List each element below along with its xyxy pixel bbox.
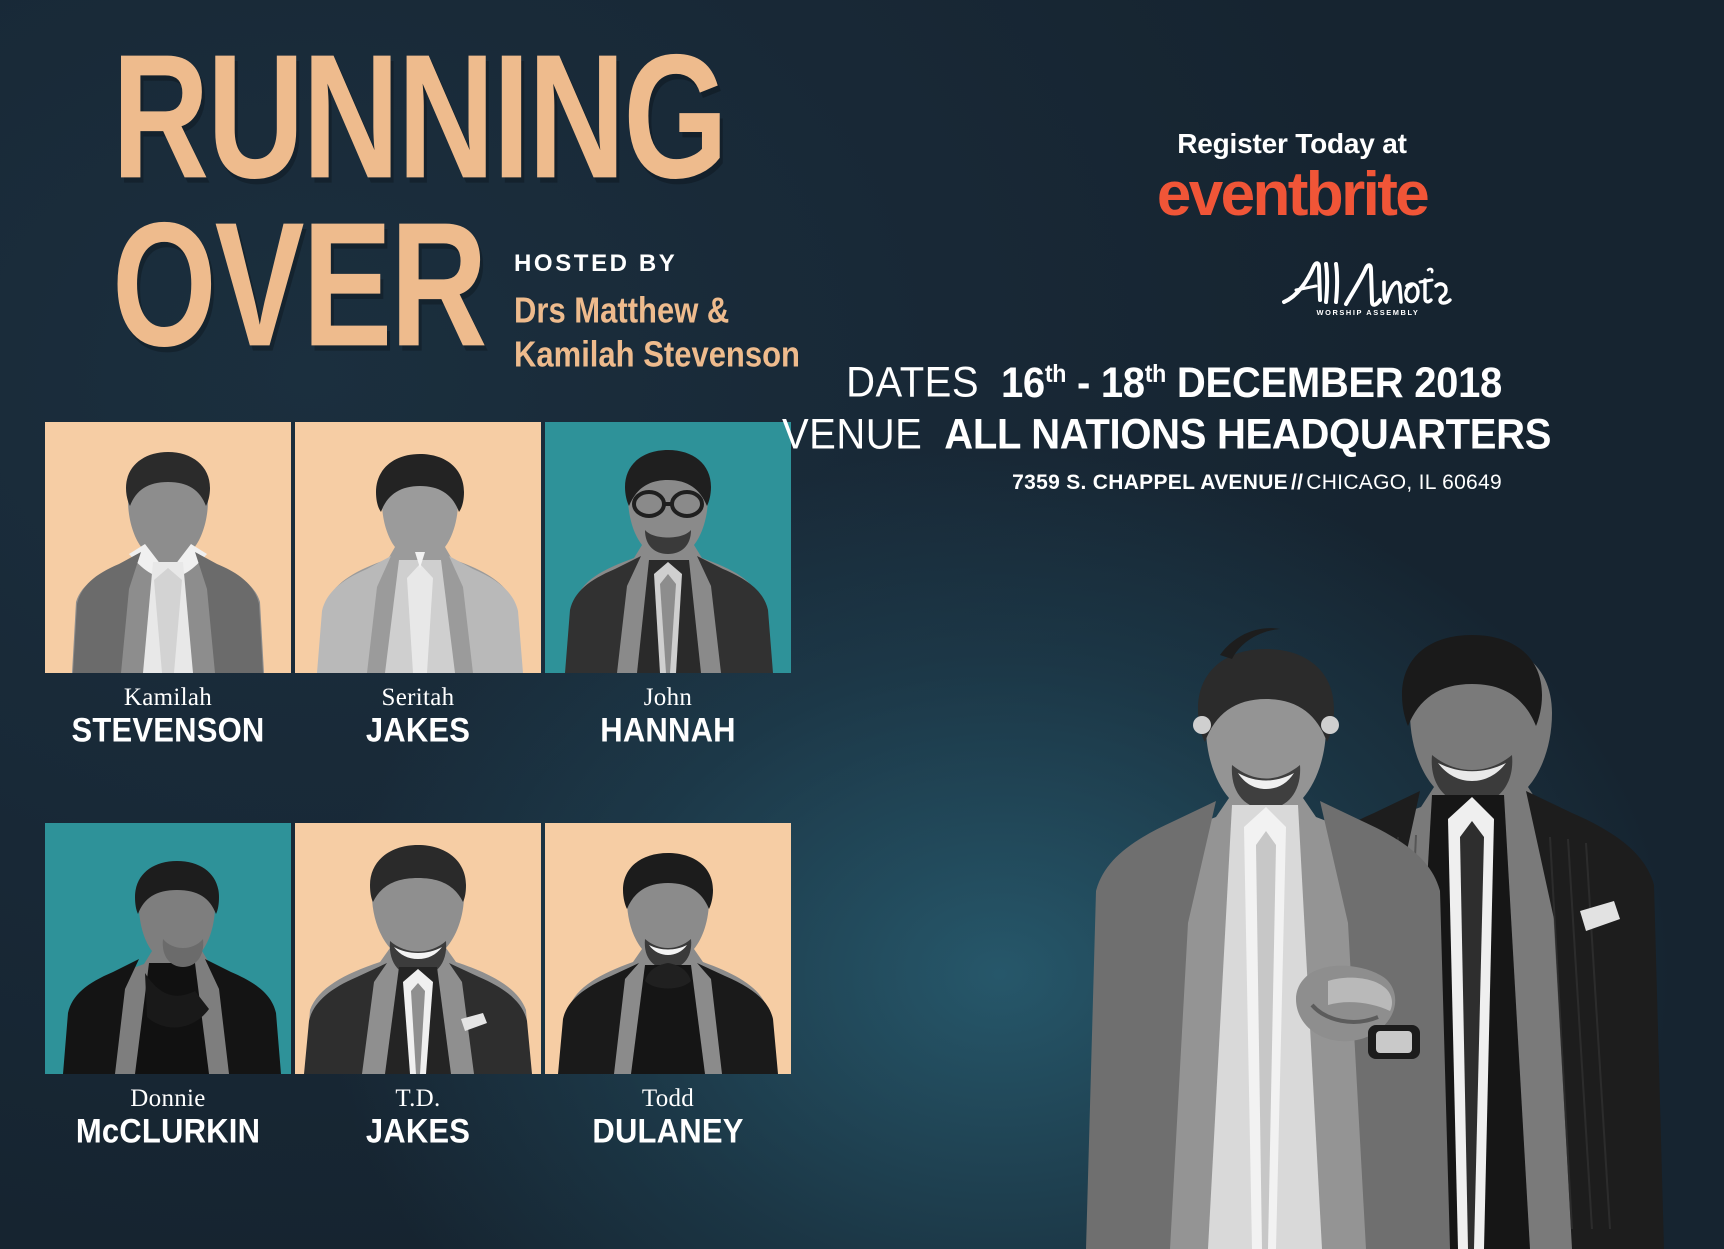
register-block[interactable]: Register Today at eventbrite <box>1082 128 1502 226</box>
date-dash: - <box>1077 360 1090 407</box>
venue-line: VENUE ALL NATIONS HEADQUARTERS <box>782 414 1502 457</box>
speaker-row-1: Kamilah STEVENSON <box>45 422 793 744</box>
speaker-photo-john-hannah <box>545 422 791 673</box>
speaker-card: Todd DULANEY <box>545 823 791 1145</box>
speaker-card: T.D. JAKES <box>295 823 541 1145</box>
speaker-name: John HANNAH <box>545 685 791 744</box>
speaker-last-name: DULANEY <box>545 1114 791 1148</box>
date-start: 16 <box>1001 360 1045 407</box>
speaker-name: Donnie McCLURKIN <box>45 1086 291 1145</box>
speaker-last-name: HANNAH <box>545 713 791 747</box>
address-line: 7359 S. CHAPPEL AVENUE//CHICAGO, IL 6064… <box>782 471 1502 495</box>
speaker-last-name: JAKES <box>295 713 541 747</box>
date-start-suffix: th <box>1045 360 1066 388</box>
event-details: DATES 16th - 18th DECEMBER 2018 VENUE AL… <box>782 362 1502 495</box>
speaker-name: T.D. JAKES <box>295 1086 541 1145</box>
speaker-last-name: STEVENSON <box>45 713 291 747</box>
speaker-name: Todd DULANEY <box>545 1086 791 1145</box>
speaker-name: Seritah JAKES <box>295 685 541 744</box>
eventbrite-logo[interactable]: eventbrite <box>1082 164 1502 226</box>
hosted-by-names: Drs Matthew & Kamilah Stevenson <box>514 289 800 377</box>
speaker-photo-todd-dulaney <box>545 823 791 1074</box>
speaker-photo-seritah-jakes <box>295 422 541 673</box>
dates-line: DATES 16th - 18th DECEMBER 2018 <box>782 362 1502 406</box>
date-month-year: DECEMBER 2018 <box>1177 360 1502 407</box>
date-end: 18 <box>1101 360 1145 407</box>
speaker-first-name: T.D. <box>295 1086 541 1111</box>
all-nations-logo-subtext: WORSHIP ASSEMBLY <box>1317 308 1420 317</box>
flyer-canvas: RUNNING OVER HOSTED BY Drs Matthew & Kam… <box>0 0 1724 1249</box>
venue-label: VENUE <box>782 412 922 458</box>
speaker-last-name: JAKES <box>295 1114 541 1148</box>
date-end-suffix: th <box>1145 360 1166 388</box>
register-label: Register Today at <box>1082 128 1502 160</box>
speaker-first-name: Seritah <box>295 685 541 710</box>
speaker-grid: Kamilah STEVENSON <box>45 422 793 1145</box>
title-line-running: RUNNING <box>112 46 726 187</box>
speaker-row-2: Donnie McCLURKIN <box>45 823 793 1145</box>
speaker-card: John HANNAH <box>545 422 791 744</box>
speaker-card: Donnie McCLURKIN <box>45 823 291 1145</box>
address-street: 7359 S. CHAPPEL AVENUE <box>1012 471 1288 494</box>
speaker-first-name: Kamilah <box>45 685 291 710</box>
dates-label: DATES <box>846 361 979 407</box>
hosted-by-label: HOSTED BY <box>514 250 800 278</box>
speaker-name: Kamilah STEVENSON <box>45 685 291 744</box>
speaker-first-name: John <box>545 685 791 710</box>
hosted-by-block: HOSTED BY Drs Matthew & Kamilah Stevenso… <box>514 250 800 365</box>
address-city: CHICAGO, IL 60649 <box>1306 471 1502 494</box>
speaker-photo-td-jakes <box>295 823 541 1074</box>
speaker-photo-donnie-mcclurkin <box>45 823 291 1074</box>
speaker-photo-kamilah-stevenson <box>45 422 291 673</box>
dates-value: 16th - 18th DECEMBER 2018 <box>990 361 1502 407</box>
speaker-last-name: McCLURKIN <box>45 1114 291 1148</box>
speaker-card: Seritah JAKES <box>295 422 541 744</box>
venue-name: ALL NATIONS HEADQUARTERS <box>933 412 1551 458</box>
speaker-card: Kamilah STEVENSON <box>45 422 291 744</box>
address-separator: // <box>1288 471 1306 494</box>
speaker-first-name: Donnie <box>45 1086 291 1111</box>
venue-name-text: ALL NATIONS HEADQUARTERS <box>944 411 1551 458</box>
speaker-first-name: Todd <box>545 1086 791 1111</box>
all-nations-logo: WORSHIP ASSEMBLY <box>1280 256 1456 318</box>
host-couple-photo <box>1080 569 1700 1249</box>
